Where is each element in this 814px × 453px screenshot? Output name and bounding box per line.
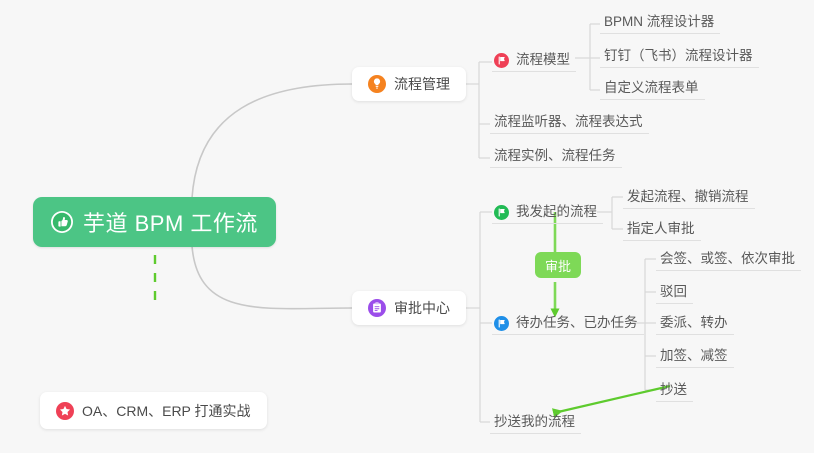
node-add-remove-sign[interactable]: 加签、减签 (656, 342, 734, 368)
node-label: 指定人审批 (627, 217, 695, 237)
tag-label: 审批 (545, 256, 571, 275)
node-label: 流程实例、流程任务 (494, 144, 616, 164)
node-label: 加签、减签 (660, 344, 728, 364)
footnote-node[interactable]: OA、CRM、ERP 打通实战 (40, 392, 267, 429)
branch-approval-center[interactable]: 审批中心 (352, 291, 466, 325)
branch-label: 流程管理 (394, 74, 450, 94)
star-icon (56, 402, 74, 420)
flag-icon (494, 205, 509, 220)
node-label: 委派、转办 (660, 311, 728, 331)
node-bpmn-designer[interactable]: BPMN 流程设计器 (600, 8, 720, 34)
node-process-listener-expression[interactable]: 流程监听器、流程表达式 (490, 108, 649, 134)
footnote-label: OA、CRM、ERP 打通实战 (82, 401, 251, 421)
node-label: 自定义流程表单 (604, 76, 699, 96)
flag-icon (494, 316, 509, 331)
node-label: 钉钉（飞书）流程设计器 (604, 44, 753, 64)
node-label: BPMN 流程设计器 (604, 10, 714, 30)
node-label: 抄送 (660, 378, 687, 398)
process-management-connectors (462, 62, 492, 158)
node-label: 发起流程、撤销流程 (627, 185, 749, 205)
clipboard-icon (368, 299, 386, 317)
approval-tag[interactable]: 审批 (535, 252, 581, 278)
node-label: 流程监听器、流程表达式 (494, 110, 643, 130)
node-start-cancel-process[interactable]: 发起流程、撤销流程 (623, 183, 755, 209)
node-label: 待办任务、已办任务 (516, 311, 638, 331)
node-custom-process-form[interactable]: 自定义流程表单 (600, 74, 705, 100)
root-label: 芋道 BPM 工作流 (83, 206, 258, 238)
node-reject[interactable]: 驳回 (656, 278, 693, 304)
branch-label: 审批中心 (394, 298, 450, 318)
node-label: 驳回 (660, 280, 687, 300)
lightbulb-icon (368, 75, 386, 93)
node-process-instance-task[interactable]: 流程实例、流程任务 (490, 142, 622, 168)
node-label: 我发起的流程 (516, 200, 597, 220)
node-label: 会签、或签、依次审批 (660, 247, 795, 267)
node-countersign-orsign-sequential[interactable]: 会签、或签、依次审批 (656, 245, 801, 271)
node-delegate-transfer[interactable]: 委派、转办 (656, 309, 734, 335)
node-designated-approval[interactable]: 指定人审批 (623, 215, 701, 241)
flag-icon (494, 53, 509, 68)
node-my-initiated-process[interactable]: 我发起的流程 (492, 198, 603, 224)
node-todo-done-task[interactable]: 待办任务、已办任务 (492, 309, 644, 335)
branch-process-management[interactable]: 流程管理 (352, 67, 466, 101)
approval-center-connectors (462, 212, 492, 422)
mindmap-canvas: 芋道 BPM 工作流 流程管理 流程模型 BPMN 流程设计器 钉钉（飞书）流程… (0, 0, 814, 453)
node-process-model[interactable]: 流程模型 (492, 46, 576, 72)
node-label: 流程模型 (516, 48, 570, 68)
node-label: 抄送我的流程 (494, 410, 575, 430)
node-dingtalk-feishu-designer[interactable]: 钉钉（飞书）流程设计器 (600, 42, 759, 68)
node-cc-to-me-process[interactable]: 抄送我的流程 (490, 408, 581, 434)
thumbs-up-icon (51, 211, 73, 233)
root-node[interactable]: 芋道 BPM 工作流 (33, 197, 276, 247)
node-carbon-copy[interactable]: 抄送 (656, 376, 693, 402)
process-model-connectors (575, 24, 600, 90)
